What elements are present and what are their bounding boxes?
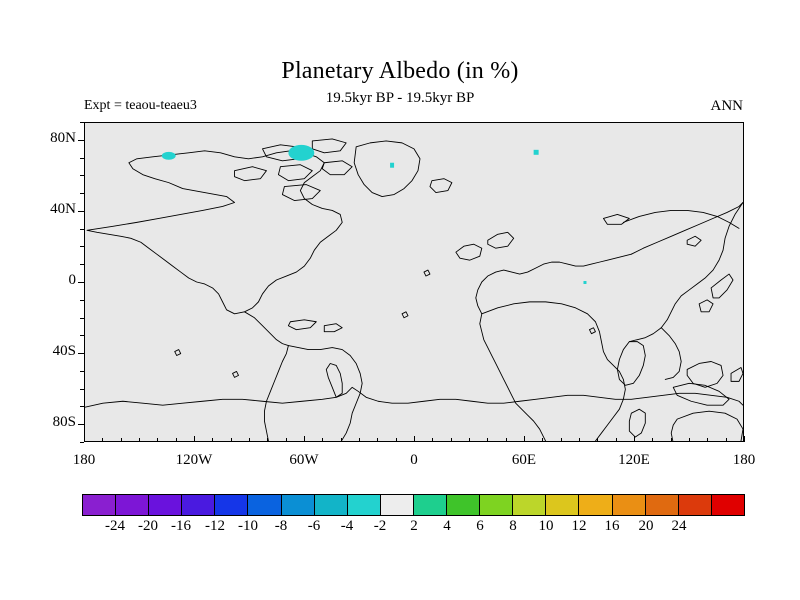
- x-axis-major-tick: [414, 436, 415, 442]
- x-axis-minor-tick: [286, 438, 287, 442]
- x-axis-minor-tick: [597, 438, 598, 442]
- x-axis-minor-tick: [102, 438, 103, 442]
- x-axis-minor-tick: [616, 438, 617, 442]
- x-axis-minor-tick: [139, 438, 140, 442]
- x-axis-minor-tick: [689, 438, 690, 442]
- x-axis-minor-tick: [249, 438, 250, 442]
- y-axis-major-tick: [78, 424, 84, 425]
- x-axis-minor-tick: [542, 438, 543, 442]
- y-axis-label: 40S: [20, 343, 76, 360]
- y-axis-major-tick: [78, 211, 84, 212]
- x-axis-minor-tick: [157, 438, 158, 442]
- data-patch: [390, 163, 394, 168]
- y-axis-major-tick: [78, 140, 84, 141]
- data-patch-group: [162, 145, 587, 284]
- y-axis-minor-tick: [80, 406, 84, 407]
- colorbar-segment: [646, 495, 679, 515]
- x-axis-minor-tick: [652, 438, 653, 442]
- experiment-label: Expt = teaou-teaeu3: [84, 98, 197, 114]
- x-axis-major-tick: [194, 436, 195, 442]
- x-axis-minor-tick: [176, 438, 177, 442]
- colorbar-segment: [182, 495, 215, 515]
- y-axis-minor-tick: [80, 246, 84, 247]
- colorbar-segment: [215, 495, 248, 515]
- x-axis-minor-tick: [506, 438, 507, 442]
- x-axis-minor-tick: [341, 438, 342, 442]
- x-axis-label: 180: [54, 452, 114, 469]
- y-axis-minor-tick: [80, 335, 84, 336]
- season-label: ANN: [711, 98, 744, 115]
- colorbar-segment: [149, 495, 182, 515]
- x-axis-minor-tick: [451, 438, 452, 442]
- colorbar-segment: [513, 495, 546, 515]
- x-axis-minor-tick: [579, 438, 580, 442]
- x-axis-major-tick: [634, 436, 635, 442]
- colorbar-segment: [613, 495, 646, 515]
- x-axis-major-tick: [744, 436, 745, 442]
- y-axis-minor-tick: [80, 122, 84, 123]
- x-axis-minor-tick: [432, 438, 433, 442]
- world-coastline-map: [85, 123, 743, 441]
- data-patch: [534, 150, 539, 155]
- map-plot-area[interactable]: [84, 122, 744, 442]
- colorbar-segment: [315, 495, 348, 515]
- x-axis-label: 120W: [164, 452, 224, 469]
- y-axis-major-tick: [78, 353, 84, 354]
- x-axis-minor-tick: [212, 438, 213, 442]
- colorbar-segment: [248, 495, 281, 515]
- colorbar-segment: [116, 495, 149, 515]
- colorbar-tick-label: 24: [657, 518, 701, 535]
- x-axis-label: 0: [384, 452, 444, 469]
- colorbar-tick-labels: -24-20-16-12-10-8-6-4-224681012162024: [82, 518, 745, 540]
- data-patch: [288, 145, 314, 161]
- y-axis-label: 80S: [20, 414, 76, 431]
- y-axis-label: 80N: [20, 130, 76, 147]
- y-axis-major-tick: [78, 282, 84, 283]
- x-axis-label: 60W: [274, 452, 334, 469]
- colorbar-segment: [348, 495, 381, 515]
- x-axis-minor-tick: [469, 438, 470, 442]
- colorbar-segment: [83, 495, 116, 515]
- colorbar-segment: [381, 495, 414, 515]
- y-axis-minor-tick: [80, 193, 84, 194]
- x-axis-minor-tick: [561, 438, 562, 442]
- x-axis-label: 60E: [494, 452, 554, 469]
- x-axis-minor-tick: [396, 438, 397, 442]
- x-axis-minor-tick: [377, 438, 378, 442]
- x-axis-major-tick: [84, 436, 85, 442]
- y-axis-minor-tick: [80, 318, 84, 319]
- y-axis-minor-tick: [80, 442, 84, 443]
- x-axis-minor-tick: [121, 438, 122, 442]
- colorbar-segment: [414, 495, 447, 515]
- colorbar-segment: [480, 495, 513, 515]
- colorbar-segment: [282, 495, 315, 515]
- y-axis-minor-tick: [80, 175, 84, 176]
- y-axis-label: 40N: [20, 201, 76, 218]
- x-axis-major-tick: [304, 436, 305, 442]
- colorbar[interactable]: [82, 494, 745, 516]
- x-axis-minor-tick: [487, 438, 488, 442]
- colorbar-segment: [546, 495, 579, 515]
- y-axis-minor-tick: [80, 389, 84, 390]
- y-axis-minor-tick: [80, 264, 84, 265]
- colorbar-segment: [579, 495, 612, 515]
- colorbar-segment: [447, 495, 480, 515]
- x-axis-major-tick: [524, 436, 525, 442]
- colorbar-segment: [679, 495, 712, 515]
- y-axis-minor-tick: [80, 371, 84, 372]
- x-axis-minor-tick: [231, 438, 232, 442]
- x-axis-minor-tick: [322, 438, 323, 442]
- x-axis-minor-tick: [267, 438, 268, 442]
- y-axis-label: 0: [20, 272, 76, 289]
- x-axis-minor-tick: [726, 438, 727, 442]
- x-axis-minor-tick: [707, 438, 708, 442]
- x-axis-label: 120E: [604, 452, 664, 469]
- x-axis-minor-tick: [359, 438, 360, 442]
- y-axis-minor-tick: [80, 300, 84, 301]
- page-title: Planetary Albedo (in %): [0, 58, 800, 85]
- x-axis-label: 180: [714, 452, 774, 469]
- y-axis-minor-tick: [80, 229, 84, 230]
- data-patch: [583, 281, 586, 284]
- x-axis-minor-tick: [671, 438, 672, 442]
- data-patch: [162, 152, 176, 160]
- y-axis-minor-tick: [80, 158, 84, 159]
- colorbar-segment: [712, 495, 744, 515]
